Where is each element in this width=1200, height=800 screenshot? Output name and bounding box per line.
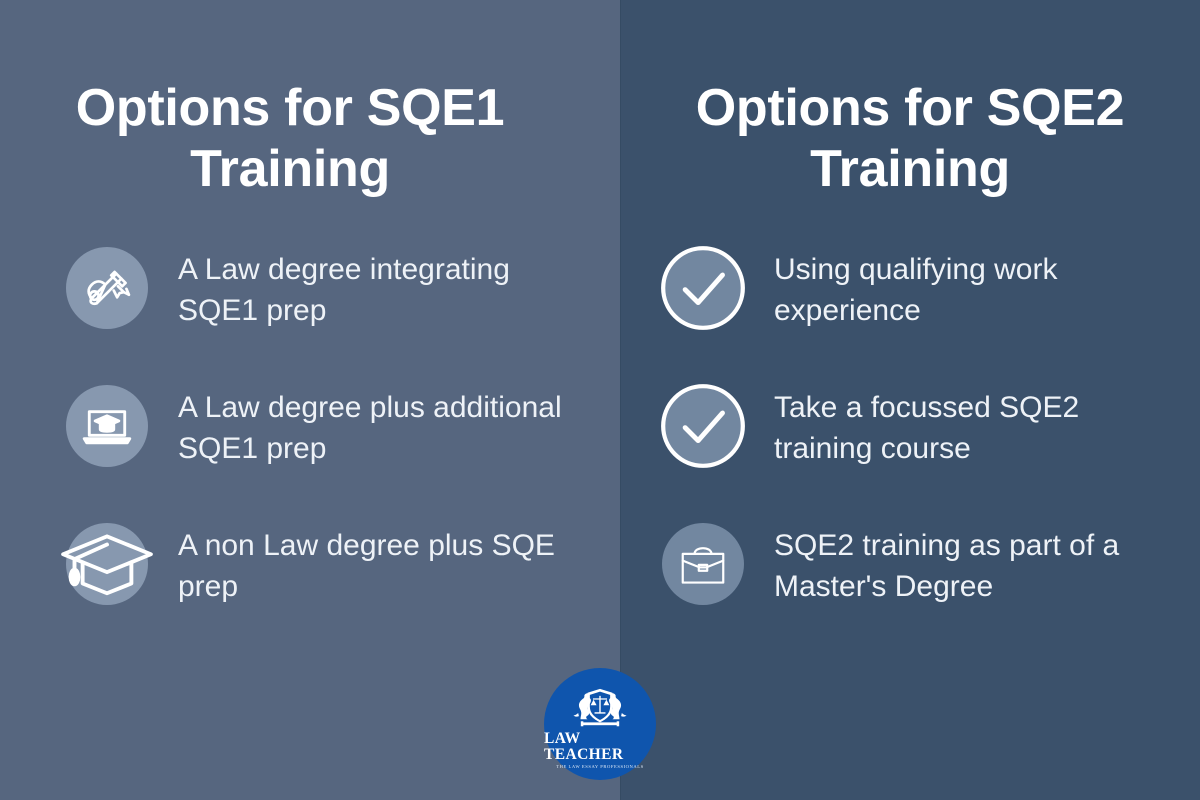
page-title-sqe1: Options for SQE1 Training xyxy=(0,0,580,201)
page-title-sqe2: Options for SQE2 Training xyxy=(620,0,1200,201)
column-sqe2: Options for SQE2 Training Using qualifyi… xyxy=(620,0,1200,800)
check-circle-icon xyxy=(662,385,744,467)
diploma-scroll-icon xyxy=(66,247,148,329)
list-item: A Law degree integrating SQE1 prep xyxy=(66,245,580,331)
list-item: Take a focussed SQE2 training course xyxy=(662,383,1200,469)
list-item-label: SQE2 training as part of a Master's Degr… xyxy=(744,521,1154,607)
list-item-label: Using qualifying work experience xyxy=(744,245,1154,331)
law-teacher-logo: LAW TEACHER THE LAW ESSAY PROFESSIONALS xyxy=(544,668,656,780)
check-circle-icon xyxy=(662,247,744,329)
briefcase-icon xyxy=(662,523,744,605)
list-item-label: A Law degree plus additional SQE1 prep xyxy=(148,383,578,469)
list-item: Using qualifying work experience xyxy=(662,245,1200,331)
laptop-graduation-cap-icon xyxy=(66,385,148,467)
logo-name: LAW TEACHER xyxy=(544,731,656,762)
options-list-sqe2: Using qualifying work experience Take a … xyxy=(620,201,1200,607)
list-item-label: A non Law degree plus SQE prep xyxy=(148,521,578,607)
infographic-root: Options for SQE1 Training A Law degree i… xyxy=(0,0,1200,800)
graduation-cap-icon xyxy=(66,523,148,605)
logo-tagline: THE LAW ESSAY PROFESSIONALS xyxy=(556,765,643,770)
lion-shield-scales-crest-icon xyxy=(561,684,639,728)
list-item-label: Take a focussed SQE2 training course xyxy=(744,383,1154,469)
list-item-label: A Law degree integrating SQE1 prep xyxy=(148,245,578,331)
list-item: A non Law degree plus SQE prep xyxy=(66,521,580,607)
list-item: A Law degree plus additional SQE1 prep xyxy=(66,383,580,469)
options-list-sqe1: A Law degree integrating SQE1 prep A Law… xyxy=(0,201,580,607)
list-item: SQE2 training as part of a Master's Degr… xyxy=(662,521,1200,607)
column-sqe1: Options for SQE1 Training A Law degree i… xyxy=(0,0,620,800)
